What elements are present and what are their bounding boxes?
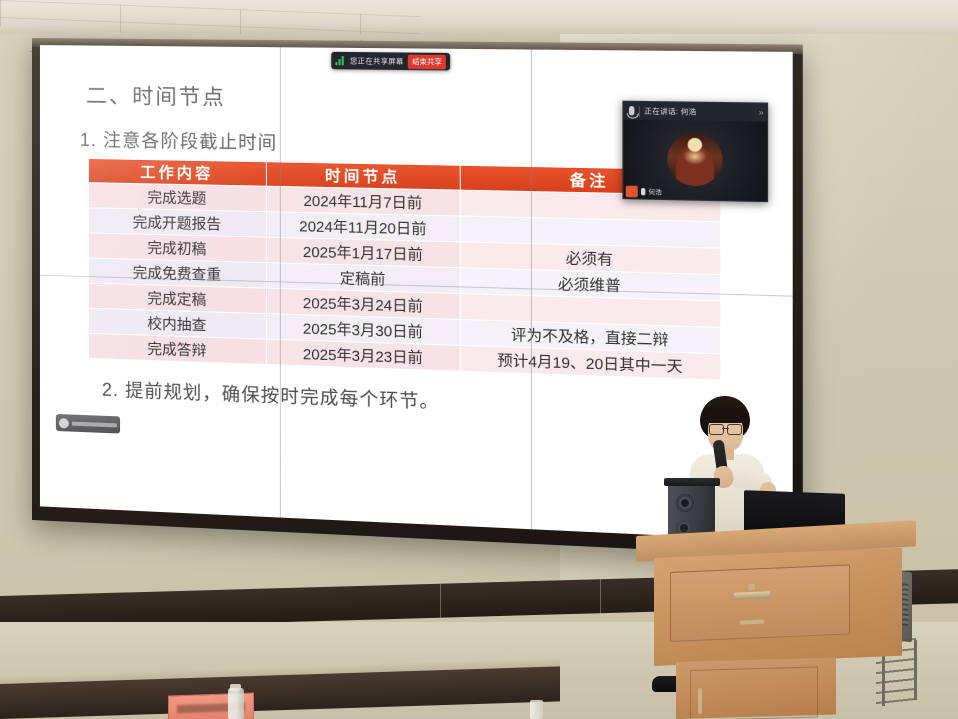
ppt-pointer-icon[interactable]: [59, 418, 69, 428]
presenter-fringe: [702, 406, 748, 423]
cell-task: 完成选题: [88, 183, 266, 212]
podium-drawer-handle[interactable]: [734, 591, 770, 600]
cell-deadline: 2025年3月23日前: [266, 339, 460, 371]
video-panel-footer: 何浩: [624, 185, 767, 202]
baseboard-joint: [440, 584, 441, 618]
video-panel-header: 正在讲话: 何浩 »: [624, 102, 767, 122]
podium-drawer-knob[interactable]: [748, 584, 755, 590]
pc-tower-fan: [676, 494, 694, 512]
podium-cabinet-handle[interactable]: [698, 688, 702, 714]
eyeglasses-icon: [709, 424, 742, 433]
pc-tower-top: [664, 478, 720, 486]
podium-cabinet-door[interactable]: [690, 666, 818, 719]
ppt-slide-controls[interactable]: [72, 421, 117, 427]
podium-rack-leg: [914, 640, 917, 700]
microphone-icon: [629, 106, 634, 116]
share-indicator-icon: [626, 186, 638, 198]
avatar-highlight: [683, 147, 707, 164]
water-bottle-secondary: [530, 700, 543, 719]
active-speaker-label: 正在讲话: 何浩: [644, 106, 696, 117]
microphone-icon: [641, 188, 645, 195]
signal-bars-icon: [335, 56, 345, 65]
video-participant-panel[interactable]: 正在讲话: 何浩 » 何浩: [622, 101, 768, 203]
screen-share-toolbar[interactable]: 您正在共享屏幕 结束共享: [331, 52, 450, 71]
ppt-presenter-toolbar[interactable]: [56, 414, 120, 434]
avatar: [667, 132, 722, 186]
stop-share-button[interactable]: 结束共享: [408, 54, 446, 69]
double-chevron-icon[interactable]: »: [759, 108, 762, 118]
slide-footer-text: 2. 提前规划，确保按时完成每个环节。: [102, 376, 759, 427]
podium-drawer[interactable]: [670, 564, 850, 642]
lecture-hall-scene: 二、时间节点 1. 注意各阶段截止时间 工作内容 时间节点 备注: [0, 0, 958, 719]
podium: [636, 536, 916, 719]
baseboard-joint: [600, 579, 601, 613]
video-wall-screen[interactable]: 二、时间节点 1. 注意各阶段截止时间 工作内容 时间节点 备注: [40, 45, 793, 541]
share-status-text: 您正在共享屏幕: [350, 56, 404, 67]
cell-task: 完成答辩: [88, 333, 266, 364]
column-header-task: 工作内容: [88, 159, 266, 187]
divider: [639, 106, 640, 117]
video-panel-body[interactable]: 何浩: [624, 120, 767, 202]
participant-name-label: 何浩: [649, 187, 662, 197]
water-bottle: [228, 688, 244, 719]
